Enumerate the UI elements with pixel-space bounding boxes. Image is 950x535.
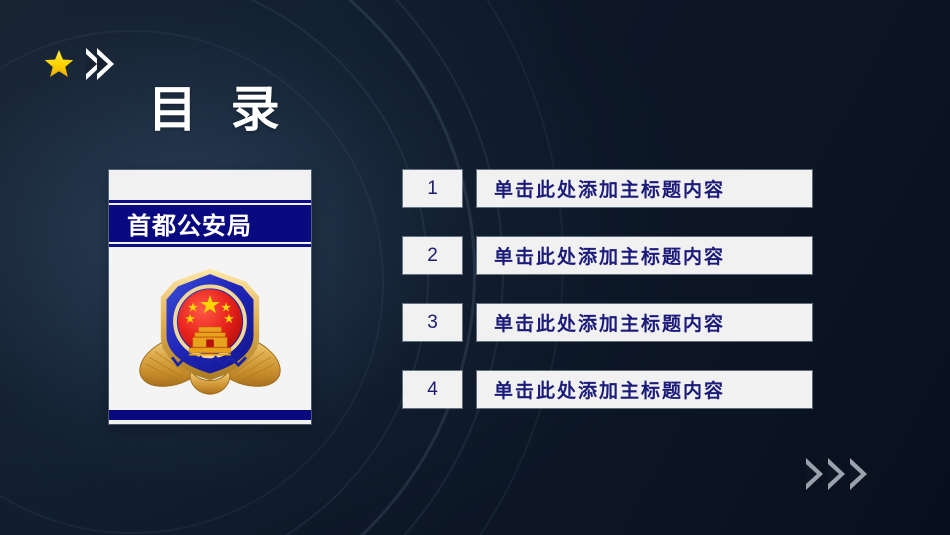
cover-bottom-rule	[109, 410, 311, 420]
list-item[interactable]: 2 单击此处添加主标题内容	[403, 237, 812, 274]
agenda-item-number: 4	[403, 371, 462, 408]
star-icon	[44, 49, 74, 79]
chevron-right-icon	[806, 458, 823, 490]
header-icon-group	[44, 48, 108, 80]
agenda-item-label[interactable]: 单击此处添加主标题内容	[477, 304, 812, 341]
agenda-item-label[interactable]: 单击此处添加主标题内容	[477, 371, 812, 408]
agenda-item-label[interactable]: 单击此处添加主标题内容	[477, 237, 812, 274]
cover-image-card: 首都公安局	[109, 170, 311, 424]
chevron-right-icon	[828, 458, 845, 490]
chevron-right-icon	[86, 48, 108, 80]
chevron-right-icon	[850, 458, 867, 490]
agenda-item-label[interactable]: 单击此处添加主标题内容	[477, 170, 812, 207]
page-title: 目 录	[148, 86, 290, 135]
list-item[interactable]: 3 单击此处添加主标题内容	[403, 304, 812, 341]
cover-banner: 首都公安局	[109, 205, 311, 242]
list-item[interactable]: 4 单击此处添加主标题内容	[403, 371, 812, 408]
police-emblem	[134, 259, 286, 399]
agenda-list: 1 单击此处添加主标题内容 2 单击此处添加主标题内容 3 单击此处添加主标题内…	[403, 170, 812, 408]
presentation-slide: 目 录 首都公安局	[0, 0, 950, 535]
cover-body	[109, 247, 311, 410]
agenda-item-number: 2	[403, 237, 462, 274]
agenda-item-number: 3	[403, 304, 462, 341]
agenda-item-number: 1	[403, 170, 462, 207]
cover-banner-text: 首都公安局	[109, 206, 252, 241]
cover-bottom-margin	[109, 420, 311, 424]
footer-chevron-group	[806, 458, 872, 490]
cover-top-margin	[109, 170, 311, 200]
list-item[interactable]: 1 单击此处添加主标题内容	[403, 170, 812, 207]
